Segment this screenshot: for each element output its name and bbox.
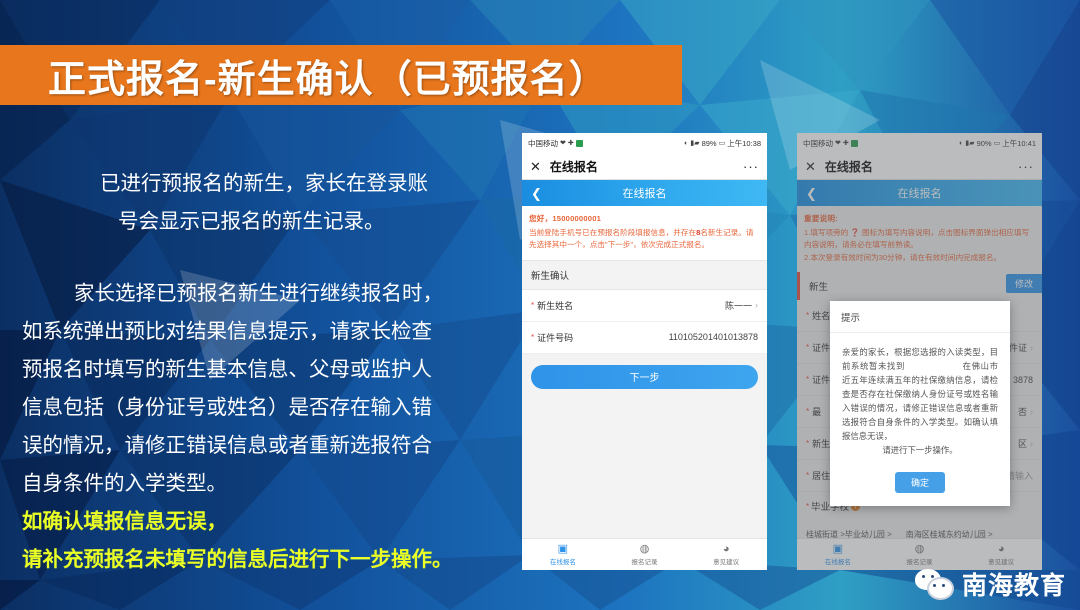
signal-icon: ▮▰ <box>965 139 974 147</box>
wechat-logo-icon <box>915 569 953 600</box>
tab-registration-record[interactable]: ◍ 报名记录 <box>879 543 961 566</box>
feedback-icon: ◕ <box>720 543 732 555</box>
dialog-title: 提示 <box>830 301 1010 333</box>
navbar-title: 在线报名 <box>522 185 767 201</box>
battery-percent: 89% <box>702 139 717 148</box>
para2-line-6-plain: 自身条件的入学类型。 <box>22 465 482 503</box>
para2-line-4: 信息包括（身份证号或姓名）是否存在输入错 <box>22 389 482 427</box>
section-title: 新生 <box>809 279 828 293</box>
paragraph-gap <box>22 241 482 275</box>
alarm-icon: ◐ <box>684 140 688 147</box>
dialog-message: 亲爱的家长，根据您选报的入读类型，目前系统暂未找到在佛山市近五年连续满五年的社保… <box>830 333 1010 463</box>
tab-feedback[interactable]: ◕ 意见建议 <box>960 543 1042 566</box>
required-marker: * <box>531 333 534 342</box>
notice-greeting: 您好，15000000001 <box>529 213 760 226</box>
status-bar: 中国移动 ❤ ✚ ◐ ▮▰ 90% ▭ 上午10:41 <box>797 133 1042 153</box>
tab-feedback[interactable]: ◕ 意见建议 <box>685 543 767 566</box>
field-value-text: 陈一一 <box>725 299 752 312</box>
notice-line-1: 1.填写项旁的 ❓ 图标为填写内容说明，点击图标界面弹出相应填写内容说明，请务必… <box>804 227 1035 252</box>
registration-record-icon: ◍ <box>914 543 926 555</box>
back-icon[interactable]: ❮ <box>531 187 542 200</box>
bluetooth-icon: ✚ <box>843 139 849 147</box>
page-title: 正式报名-新生确认（已预报名） <box>48 48 608 103</box>
signal-icon: ▮▰ <box>690 139 699 147</box>
wifi-icon: ❤ <box>835 139 841 147</box>
chevron-right-icon: › <box>1030 343 1033 353</box>
field-value: 区 › <box>1018 437 1033 450</box>
alert-dialog: 提示 亲爱的家长，根据您选报的入读类型，目前系统暂未找到在佛山市近五年连续满五年… <box>830 301 1010 506</box>
field-label: 新生姓名 <box>537 299 573 312</box>
notice-body: 当前登陆手机号已在预报名阶段填报信息，并存在8名新生记录。请先选择其中一个，点击… <box>529 227 760 252</box>
para2-line-5: 误的情况，请修正错误信息或者重新选报符合 <box>22 427 482 465</box>
notice-heading: 重要说明: <box>804 213 1035 226</box>
wechat-dot <box>922 575 925 578</box>
field-value: 件证 › <box>1009 341 1033 354</box>
para1-line-2: 号会显示已报名的新生记录。 <box>100 203 482 241</box>
slide-title-banner: 正式报名-新生确认（已预报名） <box>0 45 682 105</box>
page-scroll-area[interactable]: 您好，15000000001 当前登陆手机号已在预报名阶段填报信息，并存在8名新… <box>522 206 767 549</box>
field-value: 陈一一 › <box>725 299 758 312</box>
battery-percent: 90% <box>977 139 992 148</box>
para1-line-1: 已进行预报名的新生，家长在登录账 <box>100 172 428 195</box>
watermark-text: 南海教育 <box>962 566 1066 602</box>
section-header-student: 新生 修改 <box>797 272 1042 300</box>
online-registration-icon: ▣ <box>557 543 569 555</box>
wechat-bubble-small <box>927 577 954 600</box>
bottom-tab-bar: ▣ 在线报名 ◍ 报名记录 ◕ 意见建议 <box>522 538 767 570</box>
paragraph-1: 已进行预报名的新生，家长在登录账 号会显示已报名的新生记录。 <box>22 165 482 241</box>
status-bar-right: ◐ ▮▰ 90% ▭ 上午10:41 <box>959 138 1036 149</box>
field-value: 110105201401013878 <box>669 332 758 342</box>
field-label: 证件 <box>812 373 830 386</box>
wechat-bar-left: ✕ 在线报名 <box>530 158 598 175</box>
notice-banner: 您好，15000000001 当前登陆手机号已在预报名阶段填报信息，并存在8名新… <box>522 206 767 260</box>
wifi-icon: ❤ <box>560 139 566 147</box>
carrier-label: 中国移动 <box>803 138 833 149</box>
dialog-footer: 确定 <box>830 463 1010 506</box>
tab-label: 报名记录 <box>632 556 658 566</box>
para2-line-2: 如系统弹出预比对结果信息提示，请家长检查 <box>22 313 482 351</box>
notice-line-2: 2.本次登录有效时间为30分钟，请在有效时间内完成报名。 <box>804 252 1035 265</box>
app-badge-icon <box>851 140 858 147</box>
required-marker: * <box>806 471 809 480</box>
app-navbar: ❮ 在线报名 <box>522 180 767 206</box>
field-label: 最 <box>812 405 821 418</box>
more-icon[interactable]: ··· <box>743 160 759 173</box>
tab-label: 报名记录 <box>907 556 933 566</box>
navbar-title: 在线报名 <box>797 185 1042 201</box>
important-notice-banner: 重要说明: 1.填写项旁的 ❓ 图标为填写内容说明，点击图标界面弹出相应填写内容… <box>797 206 1042 272</box>
field-label: 证件号码 <box>537 331 573 344</box>
required-marker: * <box>806 311 809 320</box>
field-value: 否 › <box>1018 405 1033 418</box>
webview-title: 在线报名 <box>550 158 598 175</box>
close-icon[interactable]: ✕ <box>805 160 816 173</box>
chevron-right-icon: › <box>755 300 758 310</box>
redacted-name-block <box>905 362 962 370</box>
registration-record-icon: ◍ <box>639 543 651 555</box>
back-icon[interactable]: ❮ <box>806 187 817 200</box>
wechat-dot <box>942 584 945 587</box>
confirm-button[interactable]: 确定 <box>895 472 945 493</box>
required-marker: * <box>806 375 809 384</box>
tab-label: 在线报名 <box>550 556 576 566</box>
required-marker: * <box>806 439 809 448</box>
form-row-id-number[interactable]: * 证件号码 110105201401013878 <box>522 322 767 354</box>
wechat-webview-bar: ✕ 在线报名 ··· <box>522 153 767 180</box>
field-value-text: 件证 <box>1009 341 1027 354</box>
alarm-icon: ◐ <box>959 140 963 147</box>
bluetooth-icon: ✚ <box>568 139 574 147</box>
status-bar-right: ◐ ▮▰ 89% ▭ 上午10:38 <box>684 138 761 149</box>
online-registration-icon: ▣ <box>832 543 844 555</box>
next-step-button[interactable]: 下一步 <box>531 365 758 389</box>
watermark: 南海教育 <box>915 566 1066 602</box>
notice-body-a: 当前登陆手机号已在预报名阶段填报信息，并存在 <box>529 228 696 237</box>
tab-label: 意见建议 <box>713 556 739 566</box>
para2-line-6-highlight: 如确认填报信息无误， <box>22 503 482 541</box>
field-label: 姓名 <box>812 309 830 322</box>
required-marker: * <box>806 407 809 416</box>
paragraph-2: 家长选择已预报名新生进行继续报名时， 如系统弹出预比对结果信息提示，请家长检查 … <box>22 275 482 579</box>
battery-icon: ▭ <box>994 139 1001 147</box>
required-marker: * <box>806 343 809 352</box>
tab-online-registration[interactable]: ▣ 在线报名 <box>797 543 879 566</box>
dialog-message-c: 请进行下一步操作。 <box>842 443 998 457</box>
status-bar-left: 中国移动 ❤ ✚ <box>528 138 583 149</box>
tab-online-registration[interactable]: ▣ 在线报名 <box>522 543 604 566</box>
tab-registration-record[interactable]: ◍ 报名记录 <box>604 543 686 566</box>
phone-screenshot-2: 中国移动 ❤ ✚ ◐ ▮▰ 90% ▭ 上午10:41 ✕ 在线报名 ··· ❮… <box>797 133 1042 570</box>
form-row-student-name[interactable]: * 新生姓名 陈一一 › <box>522 290 767 322</box>
field-label: 证件 <box>812 341 830 354</box>
wechat-dot <box>933 584 936 587</box>
webview-title: 在线报名 <box>825 158 873 175</box>
phone-screenshot-1: 中国移动 ❤ ✚ ◐ ▮▰ 89% ▭ 上午10:38 ✕ 在线报名 ··· ❮… <box>522 133 767 570</box>
field-label: 新生 <box>812 437 830 450</box>
section-header: 新生确认 <box>522 260 767 290</box>
slide-canvas: 正式报名-新生确认（已预报名） 已进行预报名的新生，家长在登录账 号会显示已报名… <box>0 0 1080 610</box>
field-value-text: 3878 <box>1013 375 1033 385</box>
field-value-text: 区 <box>1018 437 1027 450</box>
tab-label: 意见建议 <box>988 556 1014 566</box>
body-copy-block: 已进行预报名的新生，家长在登录账 号会显示已报名的新生记录。 家长选择已预报名新… <box>22 165 482 579</box>
wechat-bar-left: ✕ 在线报名 <box>805 158 873 175</box>
feedback-icon: ◕ <box>995 543 1007 555</box>
field-value-text: 否 <box>1018 405 1027 418</box>
chevron-right-icon: › <box>1030 439 1033 449</box>
clock-label: 上午10:38 <box>727 138 761 149</box>
field-value: 3878 <box>1013 375 1033 385</box>
required-marker: * <box>806 502 809 511</box>
more-icon[interactable]: ··· <box>1018 160 1034 173</box>
field-value-text: 110105201401013878 <box>669 332 758 342</box>
battery-icon: ▭ <box>719 139 726 147</box>
chevron-right-icon: › <box>1030 407 1033 417</box>
para2-line-6: 自身条件的入学类型。如确认填报信息无误， <box>22 465 482 541</box>
clock-label: 上午10:41 <box>1002 138 1036 149</box>
status-bar: 中国移动 ❤ ✚ ◐ ▮▰ 89% ▭ 上午10:38 <box>522 133 767 153</box>
app-badge-icon <box>576 140 583 147</box>
para2-line-7-highlight: 请补充预报名未填写的信息后进行下一步操作。 <box>22 541 482 579</box>
address-input-placeholder[interactable]: 请输入 <box>1006 469 1033 482</box>
wechat-dot <box>931 575 934 578</box>
app-navbar: ❮ 在线报名 <box>797 180 1042 206</box>
field-value: 请输入 <box>1006 469 1033 482</box>
tab-label: 在线报名 <box>825 556 851 566</box>
required-marker: * <box>531 301 534 310</box>
para2-line-3: 预报名时填写的新生基本信息、父母或监护人 <box>22 351 482 389</box>
carrier-label: 中国移动 <box>528 138 558 149</box>
dialog-message-b: 在佛山市近五年连续满五年的社保缴纳信息，请检查是否存在社保缴纳人身份证号或姓名输… <box>842 361 998 441</box>
wechat-webview-bar: ✕ 在线报名 ··· <box>797 153 1042 180</box>
para2-line-1: 家长选择已预报名新生进行继续报名时， <box>22 275 482 313</box>
close-icon[interactable]: ✕ <box>530 160 541 173</box>
edit-button[interactable]: 修改 <box>1006 274 1042 293</box>
status-bar-left: 中国移动 ❤ ✚ <box>803 138 858 149</box>
